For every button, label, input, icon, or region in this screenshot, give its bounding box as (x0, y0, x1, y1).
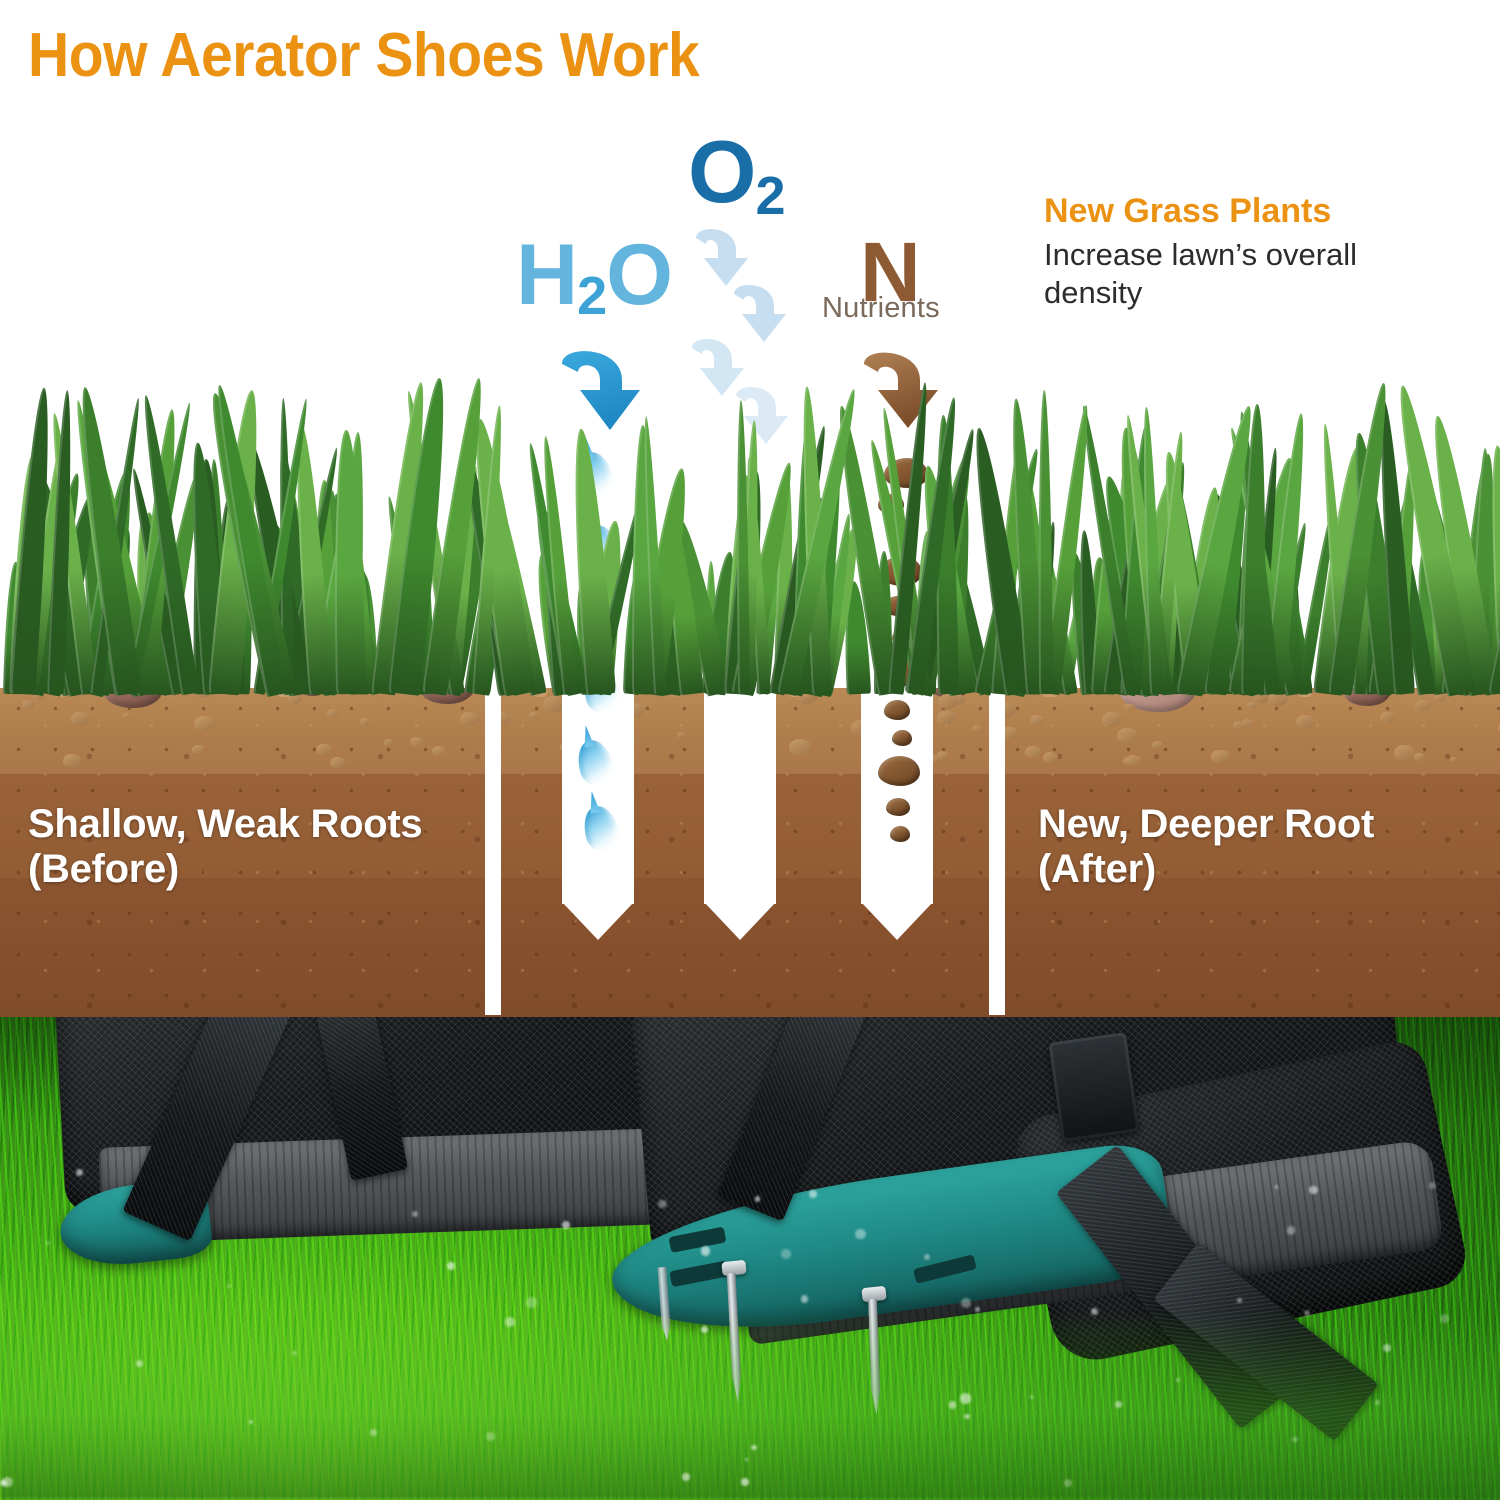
before-roots-line2: (Before) (28, 847, 422, 892)
dew-drop (801, 1295, 808, 1302)
nutrients-caption: Nutrients (822, 292, 940, 325)
infographic-root: H2O O2 N Nutrients New Grass Plants Incr… (0, 0, 1500, 1500)
dew-drop (505, 1317, 515, 1327)
grass-blade (1038, 390, 1054, 694)
water-formula-label: H2O (516, 232, 672, 323)
plate-slot-1 (668, 1227, 726, 1253)
dew-drop (1304, 1310, 1310, 1316)
dew-drop (562, 1221, 570, 1229)
dew-drop (1440, 1314, 1449, 1323)
water-flow-arrow-icon (556, 350, 666, 436)
after-roots-label: New, Deeper Root (After) (1038, 802, 1374, 892)
dew-drop (227, 1284, 231, 1288)
dew-drop (486, 1432, 495, 1441)
dew-drop (701, 1326, 708, 1333)
diagram-panel: H2O O2 N Nutrients New Grass Plants Incr… (0, 0, 1500, 1017)
nutrient-pellet (884, 700, 910, 720)
water-formula-o: O (606, 227, 672, 323)
dew-drop (1115, 1401, 1121, 1407)
soil-clod (529, 712, 539, 719)
dew-drop (0, 1480, 6, 1486)
dew-drop (76, 1169, 83, 1176)
soil-clod (1296, 715, 1315, 728)
dew-drop (1309, 1186, 1317, 1194)
dew-drop (949, 1401, 956, 1408)
dew-drop (960, 1393, 971, 1404)
plate-slot-2 (669, 1260, 729, 1287)
before-roots-label: Shallow, Weak Roots (Before) (28, 802, 422, 892)
dew-drop (292, 1351, 296, 1355)
soil-clod (22, 700, 35, 709)
oxygen-formula-o: O (688, 122, 755, 221)
dew-drop (658, 1200, 667, 1209)
dew-drop (1275, 1185, 1278, 1188)
soil-clod (327, 709, 338, 717)
soil-clod (937, 751, 948, 759)
plate-slot-3 (913, 1254, 977, 1284)
soil-clod (1126, 755, 1140, 765)
dew-drop (526, 1297, 537, 1308)
soil-clod (316, 744, 331, 755)
dew-drop (447, 1262, 455, 1270)
new-grass-plants-body: Increase lawn’s overall density (1044, 236, 1434, 312)
after-roots-line2: (After) (1038, 847, 1374, 892)
soil-clod (123, 713, 130, 718)
dew-drop (249, 1420, 253, 1424)
soil-clod (1025, 746, 1042, 758)
dew-drop (809, 1190, 817, 1198)
dew-drop (701, 1246, 711, 1256)
soil-clod (938, 694, 958, 709)
dew-drop (1429, 1182, 1436, 1189)
ankle-buckle (1048, 1032, 1139, 1142)
soil-clod (71, 712, 89, 725)
soil-clod (1394, 745, 1415, 760)
new-grass-plants-heading: New Grass Plants (1044, 192, 1331, 231)
soil-clod (432, 746, 446, 756)
page-title: How Aerator Shoes Work (28, 20, 699, 91)
soil-clod (1043, 752, 1058, 763)
after-roots-line1: New, Deeper Root (1038, 802, 1374, 847)
product-photo-panel (0, 1017, 1500, 1500)
water-formula-h: H (516, 227, 577, 323)
soil-clod (789, 739, 812, 755)
soil-clod (1414, 753, 1425, 761)
nutrient-pellet (878, 756, 920, 786)
soil-clod (1152, 741, 1163, 749)
dew-drop (1292, 1437, 1297, 1442)
dew-drop (1091, 1308, 1098, 1315)
dew-drop (855, 1229, 865, 1239)
water-formula-sub: 2 (577, 266, 606, 326)
dew-drop (781, 1249, 791, 1259)
before-roots-line1: Shallow, Weak Roots (28, 802, 422, 847)
dew-drop (1287, 1226, 1296, 1235)
soil-clod (288, 695, 300, 704)
lawn-foreground-blur (0, 1310, 1500, 1500)
nutrient-pellet (890, 826, 910, 842)
oxygen-formula-sub: 2 (755, 166, 784, 226)
dew-drop (964, 1414, 969, 1419)
nutrient-pellet (892, 730, 912, 746)
oxygen-formula-label: O2 (688, 128, 785, 223)
nutrient-pellet (886, 798, 910, 816)
dew-drop (370, 1429, 377, 1436)
